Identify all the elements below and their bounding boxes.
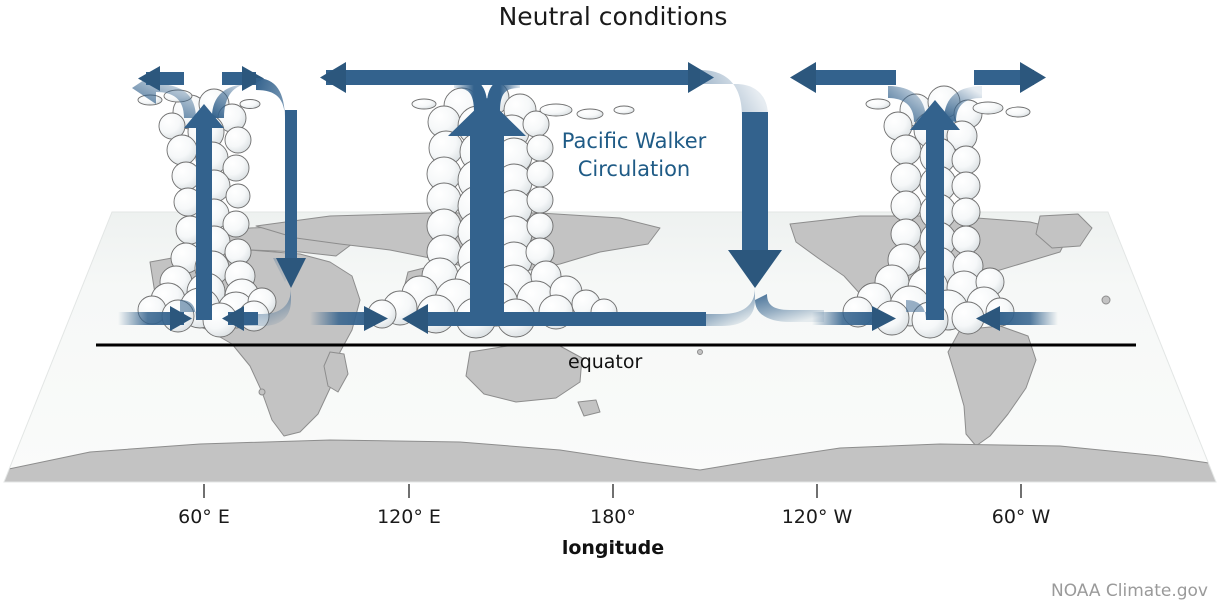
inflow-bar-east-3	[996, 312, 1058, 325]
descending-stem-2	[742, 112, 768, 252]
tick-label-180: 180°	[590, 506, 636, 528]
land-island-a	[259, 389, 265, 395]
credit-label: NOAA Climate.gov	[1051, 581, 1208, 601]
tick-label-120w: 120° W	[782, 506, 853, 528]
tick-label-60w: 60° W	[992, 506, 1051, 528]
walker-label-line2: Circulation	[578, 157, 690, 181]
axis-title: longitude	[562, 537, 664, 559]
tick-label-60e: 60° E	[178, 506, 230, 528]
walker-circulation-figure: Neutral conditions	[0, 0, 1220, 610]
outflow-bar-east-central	[326, 70, 698, 85]
walker-label-line1: Pacific Walker	[562, 129, 707, 153]
equator-label: equator	[568, 351, 643, 373]
diagram-canvas: Neutral conditions	[0, 0, 1220, 610]
descending-stem-1	[285, 110, 297, 260]
outflow-bar-left-3	[804, 70, 896, 85]
surface-bar-2	[414, 312, 706, 326]
tick-label-120e: 120° E	[377, 506, 441, 528]
land-island-b	[698, 350, 703, 355]
page-title: Neutral conditions	[499, 2, 728, 31]
land-island-c	[1102, 296, 1110, 304]
